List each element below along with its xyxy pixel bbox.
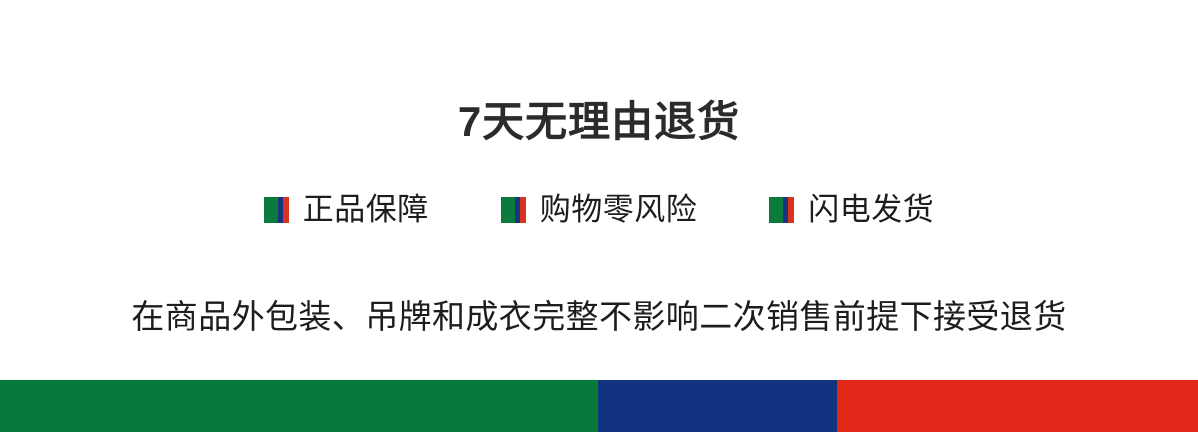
- feature-item-zero-risk: 购物零风险: [501, 190, 698, 230]
- policy-description: 在商品外包装、吊牌和成衣完整不影响二次销售前提下接受退货: [131, 295, 1066, 339]
- description-row: 在商品外包装、吊牌和成衣完整不影响二次销售前提下接受退货: [0, 262, 1198, 372]
- tricolor-flag-icon: [501, 197, 526, 223]
- color-bar-segment-red: [837, 380, 1198, 432]
- tricolor-flag-icon: [264, 197, 289, 223]
- feature-item-authenticity: 正品保障: [264, 190, 429, 230]
- feature-label: 闪电发货: [808, 190, 934, 230]
- page-title: 7天无理由退货: [458, 96, 740, 148]
- tricolor-flag-icon: [769, 197, 794, 223]
- color-bar-segment-blue: [598, 380, 837, 432]
- feature-label: 购物零风险: [540, 190, 698, 230]
- title-row: 7天无理由退货: [0, 68, 1198, 176]
- color-bar-segment-green: [0, 380, 598, 432]
- feature-item-fast-shipping: 闪电发货: [769, 190, 934, 230]
- feature-list: 正品保障 购物零风险 闪电发货: [0, 190, 1198, 230]
- feature-label: 正品保障: [303, 190, 429, 230]
- bottom-color-bar: [0, 380, 1198, 432]
- return-policy-banner: 7天无理由退货 正品保障 购物零风险 闪电: [0, 0, 1198, 432]
